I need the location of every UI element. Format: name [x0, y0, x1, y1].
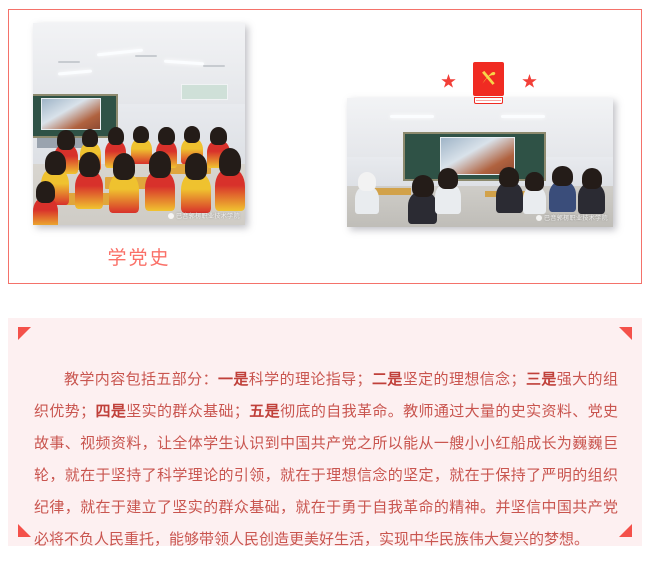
red-star-icon [522, 74, 537, 89]
corner-accent-top-right-icon [619, 327, 632, 340]
classroom-projection-illustration [347, 98, 613, 227]
teaching-content-paragraph: 教学内容包括五部分：一是科学的理论指导；二是坚定的理想信念；三是强大的组织优势；… [34, 363, 618, 555]
party-emblem-book-icon [473, 62, 504, 104]
text-run-emphasis: 五是 [249, 402, 280, 420]
watermark-logo-icon [168, 213, 174, 219]
corner-accent-bottom-left-icon [18, 524, 31, 537]
text-run-emphasis: 一是 [218, 370, 249, 388]
text-run: 坚定的理想信念； [403, 370, 526, 388]
text-run: 坚实的群众基础； [126, 402, 249, 420]
corner-accent-top-left-icon [18, 327, 31, 340]
text-run: 科学的理论指导； [249, 370, 372, 388]
red-star-icon [441, 74, 456, 89]
corner-accent-bottom-right-icon [619, 524, 632, 537]
photo-panel: 巴音郭楞职业技术学院 巴音郭楞职业技术学院 [8, 9, 642, 284]
text-run: 教学内容包括五部分： [64, 370, 218, 388]
text-run-emphasis: 四是 [95, 402, 126, 420]
party-emblem-decoration [439, 62, 539, 104]
text-run-emphasis: 二是 [372, 370, 403, 388]
photo-caption: 学党史 [33, 243, 245, 270]
text-run: 彻底的自我革命。教师通过大量的史实资料、党史故事、视频资料，让全体学生认识到中国… [34, 402, 618, 548]
content-text-panel: 教学内容包括五部分：一是科学的理论指导；二是坚定的理想信念；三是强大的组织优势；… [8, 318, 642, 546]
watermark-logo-icon [536, 215, 542, 221]
classroom-projection-photo[interactable]: 巴音郭楞职业技术学院 [347, 98, 613, 227]
classroom-scene-illustration [33, 23, 245, 225]
classroom-students-photo[interactable]: 巴音郭楞职业技术学院 [33, 23, 245, 225]
text-run-emphasis: 三是 [526, 370, 557, 388]
photo-watermark: 巴音郭楞职业技术学院 [536, 213, 608, 222]
photo-watermark: 巴音郭楞职业技术学院 [168, 211, 240, 220]
